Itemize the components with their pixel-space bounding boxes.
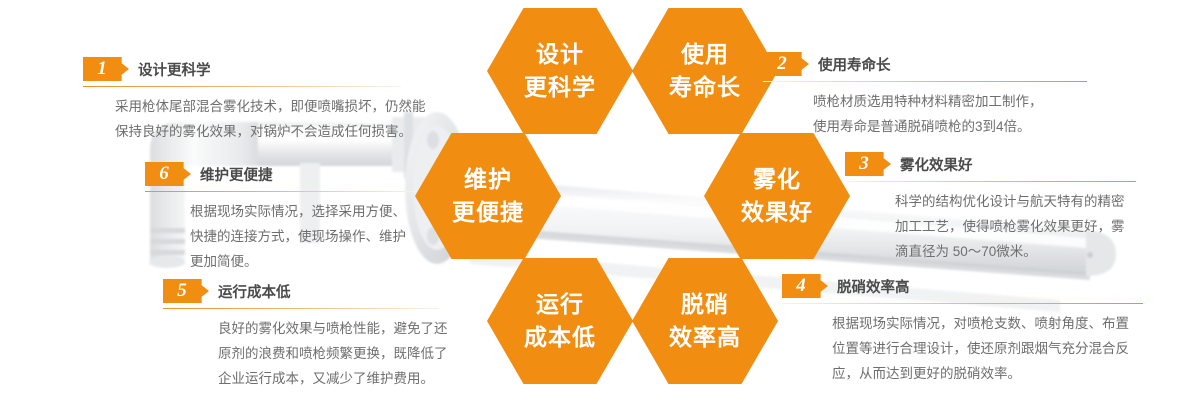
body-line: 原剂的浪费和喷枪频繁更换，既降低了: [218, 341, 451, 366]
feature-body: 根据现场实际情况，选择采用方便、 快捷的连接方式，使现场操作、维护 更加简便。: [145, 199, 430, 274]
feature-header: 5 运行成本低: [163, 277, 451, 303]
feature-block-2: 2 使用寿命长 喷枪材质选用特种材料精密加工制作， 使用寿命是普通脱硝喷枪的3到…: [763, 50, 1099, 139]
body-line: 加工工艺，使得喷枪雾化效果更好，雾: [895, 214, 1148, 239]
hexagon-line-1: 雾化: [753, 163, 801, 196]
body-line: 喷枪材质选用特种材料精密加工制作，: [813, 89, 1099, 114]
hexagon-atomization[interactable]: 雾化 效果好: [704, 133, 850, 259]
divider-rule: [145, 191, 417, 192]
feature-block-1: 1 设计更科学 采用枪体尾部混合雾化技术，即便喷嘴损坏，仍然能 保持良好的雾化效…: [83, 55, 413, 144]
body-line: 企业运行成本，又减少了维护费用。: [218, 366, 451, 391]
hexagon-design[interactable]: 设计 更科学: [487, 8, 633, 134]
feature-header: 6 维护更便捷: [145, 160, 430, 186]
feature-title: 维护更便捷: [200, 166, 273, 186]
body-line: 保持良好的雾化效果，对锅炉不会造成任何损害。: [115, 119, 413, 144]
hexagon-line-2: 成本低: [524, 321, 596, 354]
divider-rule: [763, 81, 1087, 82]
hexagon-line-2: 效率高: [669, 321, 741, 354]
number-badge-2: 2: [763, 52, 809, 76]
body-line: 根据现场实际情况，对喷枪支数、喷射角度、布置: [832, 311, 1155, 336]
feature-header: 1 设计更科学: [83, 55, 413, 81]
feature-body: 科学的结构优化设计与航天特有的精密 加工工艺，使得喷枪雾化效果更好，雾 滴直径为…: [845, 189, 1148, 264]
hexagon-line-2: 更科学: [524, 71, 596, 104]
body-line: 位置等进行合理设计，使还原剂跟烟气充分混合反: [832, 336, 1155, 361]
body-line: 更加简便。: [190, 249, 430, 274]
body-line: 采用枪体尾部混合雾化技术，即便喷嘴损坏，仍然能: [115, 94, 413, 119]
feature-title: 雾化效果好: [900, 156, 973, 176]
number-badge-4: 4: [782, 274, 828, 298]
hexagon-denitration[interactable]: 脱硝 效率高: [632, 258, 778, 384]
divider-rule: [782, 303, 1143, 304]
number-badge-1: 1: [83, 57, 129, 81]
feature-body: 喷枪材质选用特种材料精密加工制作， 使用寿命是普通脱硝喷枪的3到4倍。: [763, 89, 1099, 139]
feature-block-4: 4 脱硝效率高 根据现场实际情况，对喷枪支数、喷射角度、布置 位置等进行合理设计…: [782, 272, 1155, 386]
hexagon-line-1: 脱硝: [681, 288, 729, 321]
body-line: 使用寿命是普通脱硝喷枪的3到4倍。: [813, 114, 1099, 139]
number-badge-3: 3: [845, 152, 891, 176]
hexagon-line-1: 运行: [536, 288, 584, 321]
hexagon-line-2: 更便捷: [452, 196, 524, 229]
feature-header: 3 雾化效果好: [845, 150, 1148, 176]
feature-body: 采用枪体尾部混合雾化技术，即便喷嘴损坏，仍然能 保持良好的雾化效果，对锅炉不会造…: [83, 94, 413, 144]
hexagon-maintenance[interactable]: 维护 更便捷: [415, 133, 561, 259]
hexagon-cost[interactable]: 运行 成本低: [487, 258, 633, 384]
body-line: 快捷的连接方式，使现场操作、维护: [190, 224, 430, 249]
feature-block-3: 3 雾化效果好 科学的结构优化设计与航天特有的精密 加工工艺，使得喷枪雾化效果更…: [845, 150, 1148, 264]
body-line: 根据现场实际情况，选择采用方便、: [190, 199, 430, 224]
feature-title: 运行成本低: [218, 283, 291, 303]
feature-header: 4 脱硝效率高: [782, 272, 1155, 298]
number-badge-6: 6: [145, 162, 191, 186]
hexagon-line-1: 维护: [464, 163, 512, 196]
divider-rule: [163, 308, 439, 309]
number-badge-5: 5: [163, 279, 209, 303]
feature-title: 脱硝效率高: [837, 278, 910, 298]
body-line: 滴直径为 50～70微米。: [895, 239, 1148, 264]
hexagon-line-2: 效果好: [741, 196, 813, 229]
body-line: 良好的雾化效果与喷枪性能，避免了还: [218, 316, 451, 341]
feature-block-6: 6 维护更便捷 根据现场实际情况，选择采用方便、 快捷的连接方式，使现场操作、维…: [145, 160, 430, 274]
hexagon-line-2: 寿命长: [669, 71, 741, 104]
feature-body: 良好的雾化效果与喷枪性能，避免了还 原剂的浪费和喷枪频繁更换，既降低了 企业运行…: [163, 316, 451, 391]
hexagon-line-1: 设计: [536, 38, 584, 71]
body-line: 应，从而达到更好的脱硝效率。: [832, 361, 1155, 386]
divider-rule: [845, 181, 1136, 182]
feature-title: 设计更科学: [138, 61, 211, 81]
feature-header: 2 使用寿命长: [763, 50, 1099, 76]
hexagon-line-1: 使用: [681, 38, 729, 71]
feature-block-5: 5 运行成本低 良好的雾化效果与喷枪性能，避免了还 原剂的浪费和喷枪频繁更换，既…: [163, 277, 451, 391]
hexagon-lifespan[interactable]: 使用 寿命长: [632, 8, 778, 134]
feature-title: 使用寿命长: [818, 56, 891, 76]
divider-rule: [83, 86, 401, 87]
feature-body: 根据现场实际情况，对喷枪支数、喷射角度、布置 位置等进行合理设计，使还原剂跟烟气…: [782, 311, 1155, 386]
body-line: 科学的结构优化设计与航天特有的精密: [895, 189, 1148, 214]
